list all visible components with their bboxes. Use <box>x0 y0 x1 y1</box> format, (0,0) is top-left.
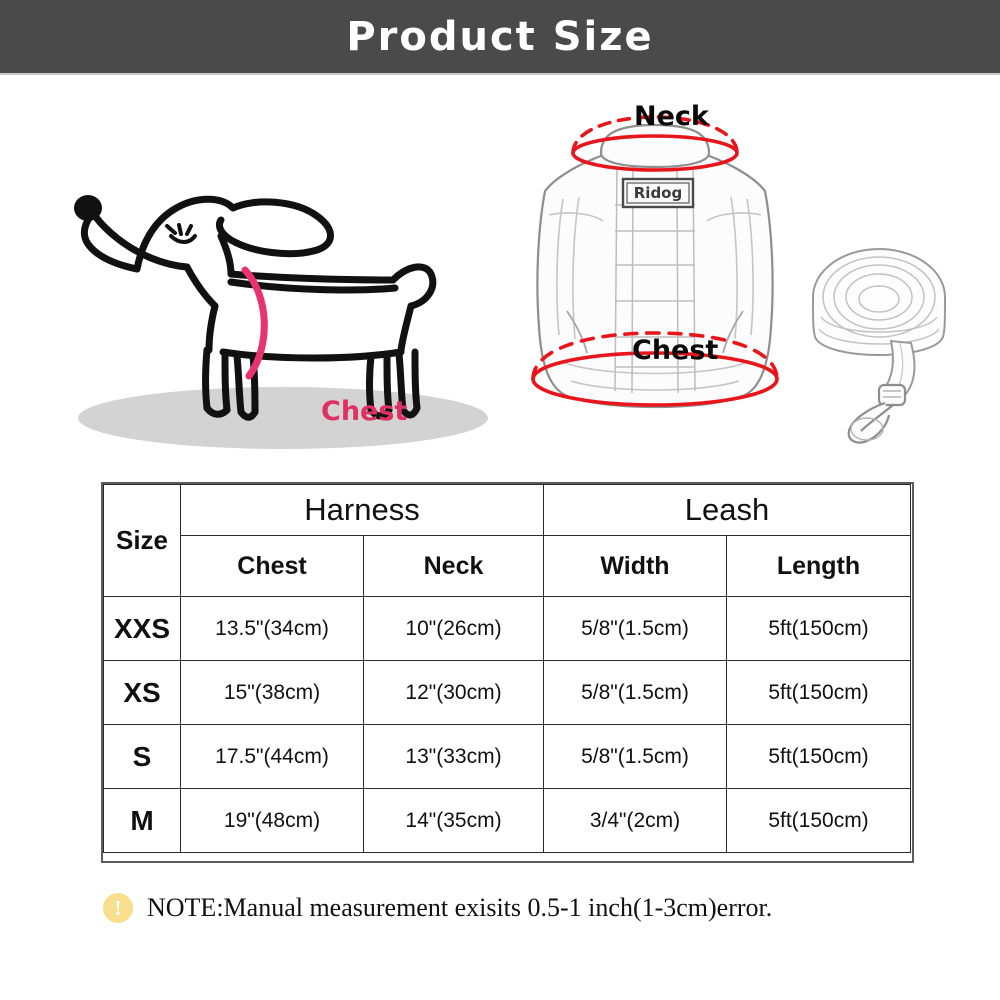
header-group-harness: Harness <box>181 485 544 536</box>
dog-nose <box>74 195 102 221</box>
row-size: S <box>104 725 181 789</box>
row-size: XS <box>104 661 181 725</box>
dog-shadow <box>78 387 488 449</box>
cell-harness-chest: 15"(38cm) <box>181 661 364 725</box>
size-chart-table: Size Harness Leash Chest Neck Width Leng… <box>103 484 911 853</box>
exclamation-icon: ! <box>103 893 133 923</box>
header-group-leash: Leash <box>544 485 911 536</box>
header-harness-chest: Chest <box>181 536 364 597</box>
dog-illustration: Chest <box>55 170 515 475</box>
cell-leash-length: 5ft(150cm) <box>727 789 911 853</box>
row-size: M <box>104 789 181 853</box>
cell-harness-neck: 12"(30cm) <box>364 661 544 725</box>
cell-leash-width: 5/8"(1.5cm) <box>544 725 727 789</box>
note-row: ! NOTE:Manual measurement exisits 0.5-1 … <box>103 893 913 923</box>
leash-illustration <box>805 225 965 450</box>
cell-leash-width: 5/8"(1.5cm) <box>544 597 727 661</box>
page-title: Product Size <box>346 17 653 57</box>
table-header-group-row: Size Harness Leash <box>104 485 911 536</box>
cell-leash-length: 5ft(150cm) <box>727 725 911 789</box>
exclamation-glyph: ! <box>115 898 122 919</box>
table-row: XXS 13.5"(34cm) 10"(26cm) 5/8"(1.5cm) 5f… <box>104 597 911 661</box>
svg-text:Ridog: Ridog <box>634 184 682 202</box>
header-leash-length: Length <box>727 536 911 597</box>
illustration-band: Chest <box>0 75 1000 470</box>
cell-harness-chest: 13.5"(34cm) <box>181 597 364 661</box>
harness-illustration: Ridog <box>505 95 805 440</box>
row-size: XXS <box>104 597 181 661</box>
table-header-sub-row: Chest Neck Width Length <box>104 536 911 597</box>
header-size: Size <box>104 485 181 597</box>
header-bar: Product Size <box>0 0 1000 73</box>
header-leash-width: Width <box>544 536 727 597</box>
brand-patch: Ridog <box>623 179 693 207</box>
header-harness-neck: Neck <box>364 536 544 597</box>
cell-harness-neck: 14"(35cm) <box>364 789 544 853</box>
harness-neck-label: Neck <box>634 103 709 130</box>
cell-harness-neck: 10"(26cm) <box>364 597 544 661</box>
table-row: XS 15"(38cm) 12"(30cm) 5/8"(1.5cm) 5ft(1… <box>104 661 911 725</box>
table-row: S 17.5"(44cm) 13"(33cm) 5/8"(1.5cm) 5ft(… <box>104 725 911 789</box>
cell-harness-chest: 17.5"(44cm) <box>181 725 364 789</box>
cell-leash-length: 5ft(150cm) <box>727 661 911 725</box>
cell-harness-neck: 13"(33cm) <box>364 725 544 789</box>
harness-chest-label: Chest <box>632 337 718 364</box>
cell-leash-width: 5/8"(1.5cm) <box>544 661 727 725</box>
dog-chest-label: Chest <box>321 398 407 425</box>
cell-harness-chest: 19"(48cm) <box>181 789 364 853</box>
cell-leash-width: 3/4"(2cm) <box>544 789 727 853</box>
note-text: NOTE:Manual measurement exisits 0.5-1 in… <box>147 895 772 921</box>
cell-leash-length: 5ft(150cm) <box>727 597 911 661</box>
table-row: M 19"(48cm) 14"(35cm) 3/4"(2cm) 5ft(150c… <box>104 789 911 853</box>
